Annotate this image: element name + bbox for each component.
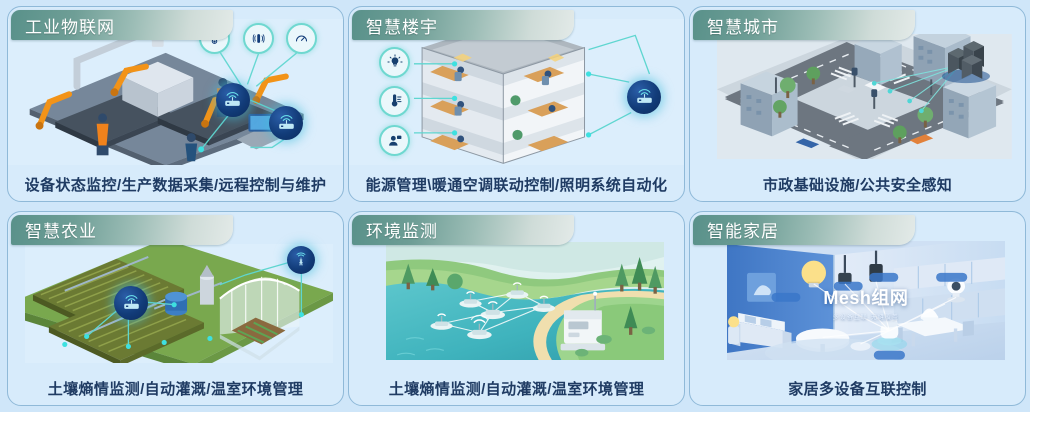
illustration-smart-agriculture — [8, 224, 343, 370]
card-caption-environment-monitoring: 土壤熵情监测/自动灌溉/温室环境管理 — [355, 378, 678, 399]
router-icon — [114, 286, 148, 320]
mesh-overlay: Mesh组网 多设备互联·无缝覆盖 — [727, 284, 1005, 321]
mesh-overlay-subtitle: 多设备互联·无缝覆盖 — [727, 312, 1005, 321]
router-icon — [216, 83, 250, 117]
illustration-environment-monitoring — [349, 224, 684, 370]
illustration-smart-building — [349, 19, 684, 165]
card-title-industrial-iot: 工业物联网 — [11, 10, 233, 40]
card-title-smart-building: 智慧楼宇 — [352, 10, 574, 40]
card-caption-smart-building: 能源管理\暖通空调联动控制/照明系统自动化 — [355, 174, 678, 195]
card-industrial-iot[interactable]: 工业物联网 设备状态监控/生产数据采集/远程控制与维护 — [7, 6, 344, 202]
card-title-environment-monitoring: 环境监测 — [352, 215, 574, 245]
page-bottom-margin — [0, 412, 1039, 421]
lake-scene-svg — [386, 242, 664, 360]
thermometer-icon — [379, 86, 410, 117]
card-caption-smart-city: 市政基础设施/公共安全感知 — [696, 174, 1019, 195]
card-title-smart-city: 智慧城市 — [693, 10, 915, 40]
lightbulb-icon — [379, 47, 410, 78]
illustration-smart-home: Mesh组网 多设备互联·无缝覆盖 — [690, 224, 1025, 370]
card-smart-building[interactable]: 智慧楼宇 能源管理\暖通空调联动控制/照明系统自动化 — [348, 6, 685, 202]
card-smart-city[interactable]: 智慧城市 市政基础设施/公共安全感知 — [689, 6, 1026, 202]
card-environment-monitoring[interactable]: 环境监测 土壤熵情监测/自动灌溉/温室环境管理 — [348, 211, 685, 407]
illustration-industrial-iot — [8, 19, 343, 165]
illustration-smart-city — [690, 19, 1025, 165]
card-smart-home[interactable]: Mesh组网 多设备互联·无缝覆盖 智能家居 家居多设备互联控制 — [689, 211, 1026, 407]
card-title-smart-agriculture: 智慧农业 — [11, 215, 233, 245]
card-title-smart-home: 智能家居 — [693, 215, 915, 245]
server-cluster-icon — [935, 36, 997, 84]
card-caption-smart-agriculture: 土壤熵情监测/自动灌溉/温室环境管理 — [14, 378, 337, 399]
card-grid: 工业物联网 设备状态监控/生产数据采集/远程控制与维护 — [0, 0, 1030, 412]
vibration-sensor-icon — [243, 23, 274, 54]
card-smart-agriculture[interactable]: 智慧农业 土壤熵情监测/自动灌溉/温室环境管理 — [7, 211, 344, 407]
mesh-overlay-title: Mesh组网 — [727, 284, 1005, 310]
card-caption-smart-home: 家居多设备互联控制 — [696, 378, 1019, 399]
router-icon — [627, 80, 661, 114]
scenario-gallery: 工业物联网 设备状态监控/生产数据采集/远程控制与维护 — [0, 0, 1039, 421]
antenna-tower-icon — [287, 246, 315, 274]
card-caption-industrial-iot: 设备状态监控/生产数据采集/远程控制与维护 — [14, 174, 337, 195]
